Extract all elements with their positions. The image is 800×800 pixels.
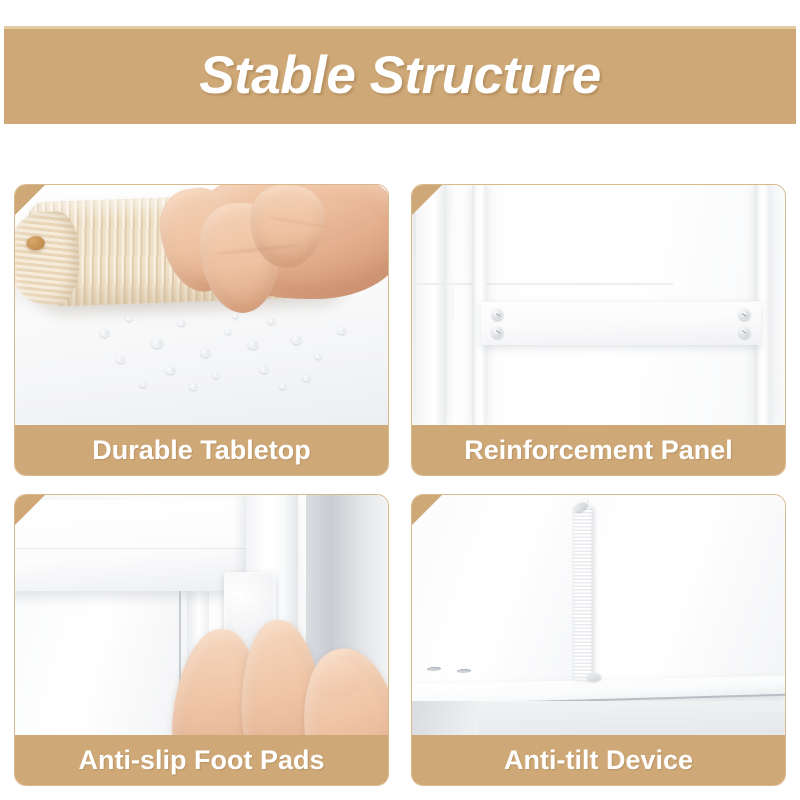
caption-label: Anti-slip Foot Pads [79,745,325,776]
strap-bottom-anchor-icon [587,673,601,681]
header-banner: Stable Structure [4,26,796,124]
page-title: Stable Structure [199,49,600,102]
promo-page: Stable Structure [0,0,800,800]
caption-bar-anti-slip-foot-pads: Anti-slip Foot Pads [15,735,388,785]
photo-anti-slip-foot-pads [15,495,388,735]
reinforcement-brace [481,301,761,344]
header-top-highlight [4,26,796,29]
cloth-rolled-end [15,211,81,306]
feature-panel-anti-tilt-device[interactable]: Anti-tilt Device [411,494,786,786]
shelf-underside-shadow [412,701,479,735]
caption-bar-anti-tilt-device: Anti-tilt Device [412,735,785,785]
anti-tilt-strap [574,507,593,680]
caption-bar-reinforcement-panel: Reinforcement Panel [412,425,785,475]
corner-accent-icon [412,495,442,525]
shelf-corner [416,283,453,317]
corner-accent-icon [15,495,45,525]
caption-label: Reinforcement Panel [464,435,733,466]
fingernail [311,657,366,701]
feature-panel-durable-tabletop[interactable]: Durable Tabletop [14,184,389,476]
screw-bottom-left-icon [492,327,503,338]
water-droplets [82,305,373,415]
shelf-edge-line [416,283,673,285]
caption-label: Durable Tabletop [92,435,311,466]
hand-wiping [157,185,388,319]
feature-panel-reinforcement-panel[interactable]: Reinforcement Panel [411,184,786,476]
photo-anti-tilt-device [412,495,785,735]
screw-top-right-icon [739,309,750,320]
screw-bottom-right-icon [739,327,750,338]
feature-panel-grid: Durable Tabletop Reinfo [14,184,786,786]
corner-accent-icon [15,185,45,215]
feature-panel-anti-slip-foot-pads[interactable]: Anti-slip Foot Pads [14,494,389,786]
back-panel-right [587,495,785,687]
hand-applying-pad [164,620,388,735]
corner-accent-icon [412,185,442,215]
caption-bar-durable-tabletop: Durable Tabletop [15,425,388,475]
caption-label: Anti-tilt Device [504,745,693,776]
photo-reinforcement-panel [412,185,785,425]
screw-top-left-icon [492,309,503,320]
photo-durable-tabletop [15,185,388,425]
